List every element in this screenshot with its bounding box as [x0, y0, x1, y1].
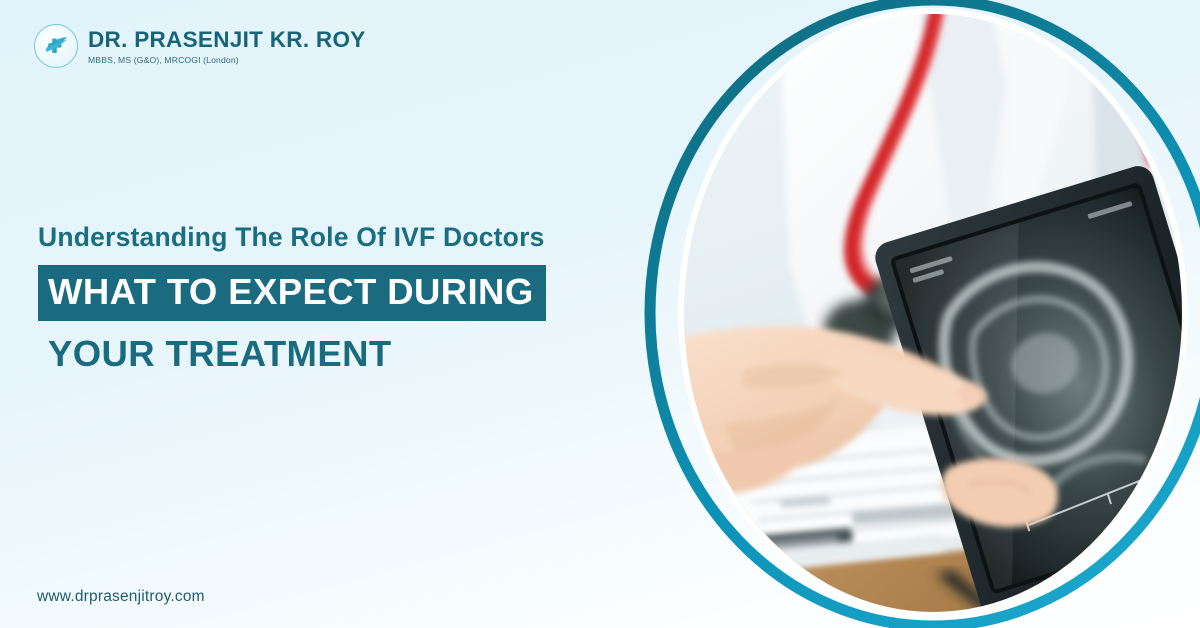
website-url[interactable]: www.drprasenjitroy.com: [37, 588, 205, 606]
hero-photo: [640, 0, 1200, 628]
brand-qualifications: MBBS, MS (G&O), MRCOGI (London): [88, 55, 366, 65]
brand-logo[interactable]: DR. PRASENJIT KR. ROY MBBS, MS (G&O), MR…: [34, 24, 366, 68]
medical-cross-circle-icon: [34, 24, 78, 68]
promo-banner: DR. PRASENJIT KR. ROY MBBS, MS (G&O), MR…: [0, 0, 1200, 628]
doctor-ultrasound-photo: [684, 14, 1182, 612]
brand-name: DR. PRASENJIT KR. ROY: [88, 28, 366, 52]
headline-kicker: Understanding The Role Of IVF Doctors: [38, 222, 638, 253]
headline-line-three: YOUR TREATMENT: [38, 336, 638, 373]
brand-text: DR. PRASENJIT KR. ROY MBBS, MS (G&O), MR…: [88, 27, 366, 65]
headline-highlight-band: WHAT TO EXPECT DURING: [38, 265, 546, 321]
headline-block: Understanding The Role Of IVF Doctors WH…: [38, 222, 638, 372]
